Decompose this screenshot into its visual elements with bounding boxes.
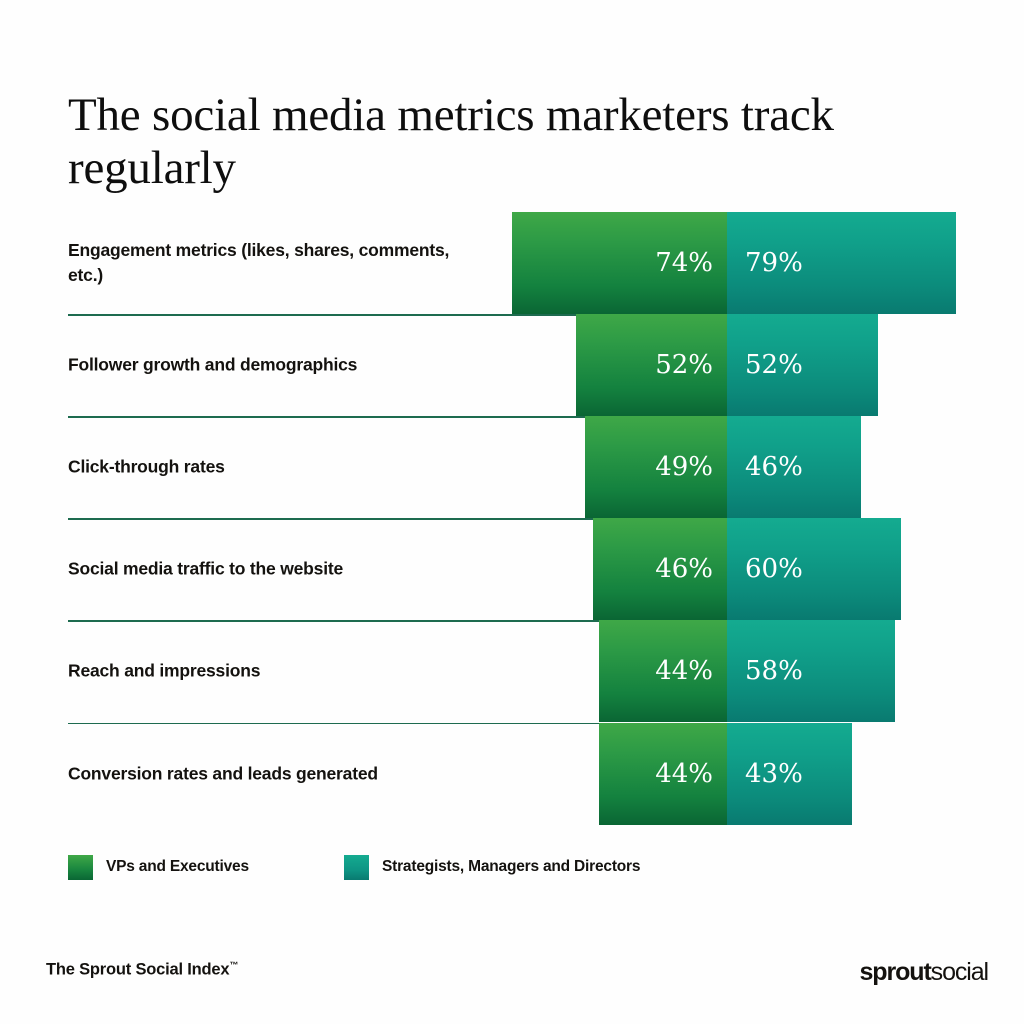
sprout-social-logo: sproutsocial xyxy=(860,958,989,987)
legend-item: Strategists, Managers and Directors xyxy=(344,853,640,881)
bar-value-label: 52% xyxy=(745,350,803,380)
bar-vps-and-executives: 49% xyxy=(585,416,727,518)
row-divider xyxy=(68,314,576,316)
bar-value-label: 79% xyxy=(745,248,803,278)
legend-swatch-icon xyxy=(68,855,93,880)
row-divider xyxy=(68,723,599,725)
bar-value-label: 43% xyxy=(745,759,803,789)
diverging-bar-chart: Engagement metrics (likes, shares, comme… xyxy=(0,212,1024,825)
bar-vps-and-executives: 44% xyxy=(599,620,727,722)
bar-strategists-managers-directors: 52% xyxy=(727,314,878,416)
bar-strategists-managers-directors: 60% xyxy=(727,518,901,620)
bar-strategists-managers-directors: 58% xyxy=(727,620,895,722)
category-label: Engagement metrics (likes, shares, comme… xyxy=(68,238,488,288)
category-label: Social media traffic to the website xyxy=(68,557,488,582)
bar-vps-and-executives: 52% xyxy=(576,314,727,416)
row-divider xyxy=(68,416,585,418)
legend-item: VPs and Executives xyxy=(68,853,249,881)
row-divider xyxy=(68,620,599,622)
category-label: Conversion rates and leads generated xyxy=(68,761,488,786)
bar-strategists-managers-directors: 46% xyxy=(727,416,861,518)
bar-vps-and-executives: 44% xyxy=(599,723,727,825)
chart-row: Click-through rates49%46% xyxy=(0,416,1024,518)
category-label: Follower growth and demographics xyxy=(68,353,488,378)
chart-row: Conversion rates and leads generated44%4… xyxy=(0,723,1024,825)
legend-label: VPs and Executives xyxy=(106,858,249,876)
bar-strategists-managers-directors: 79% xyxy=(727,212,956,314)
bar-value-label: 74% xyxy=(655,248,713,278)
bar-value-label: 46% xyxy=(655,554,713,584)
bar-value-label: 44% xyxy=(655,656,713,686)
infographic-canvas: The social media metrics marketers track… xyxy=(0,0,1024,1024)
bar-value-label: 58% xyxy=(745,656,803,686)
source-label: The Sprout Social Index xyxy=(46,961,229,979)
chart-row: Reach and impressions44%58% xyxy=(0,620,1024,722)
legend-label: Strategists, Managers and Directors xyxy=(382,858,640,876)
chart-row: Social media traffic to the website46%60… xyxy=(0,518,1024,620)
row-divider xyxy=(68,518,593,520)
bar-vps-and-executives: 46% xyxy=(593,518,727,620)
chart-row: Engagement metrics (likes, shares, comme… xyxy=(0,212,1024,314)
bar-value-label: 46% xyxy=(745,452,803,482)
logo-wordmark-bold: sprout xyxy=(860,958,931,986)
chart-row: Follower growth and demographics52%52% xyxy=(0,314,1024,416)
category-label: Click-through rates xyxy=(68,455,488,480)
trademark-icon: ™ xyxy=(229,960,238,970)
bar-value-label: 49% xyxy=(655,452,713,482)
logo-wordmark-light: social xyxy=(931,958,988,986)
source-attribution: The Sprout Social Index™ xyxy=(46,960,238,980)
bar-value-label: 52% xyxy=(655,350,713,380)
bar-strategists-managers-directors: 43% xyxy=(727,723,852,825)
bar-value-label: 60% xyxy=(745,554,803,584)
page-title: The social media metrics marketers track… xyxy=(68,89,868,195)
bar-value-label: 44% xyxy=(655,759,713,789)
legend-swatch-icon xyxy=(344,855,369,880)
chart-legend: VPs and ExecutivesStrategists, Managers … xyxy=(68,853,868,881)
category-label: Reach and impressions xyxy=(68,659,488,684)
bar-vps-and-executives: 74% xyxy=(512,212,727,314)
